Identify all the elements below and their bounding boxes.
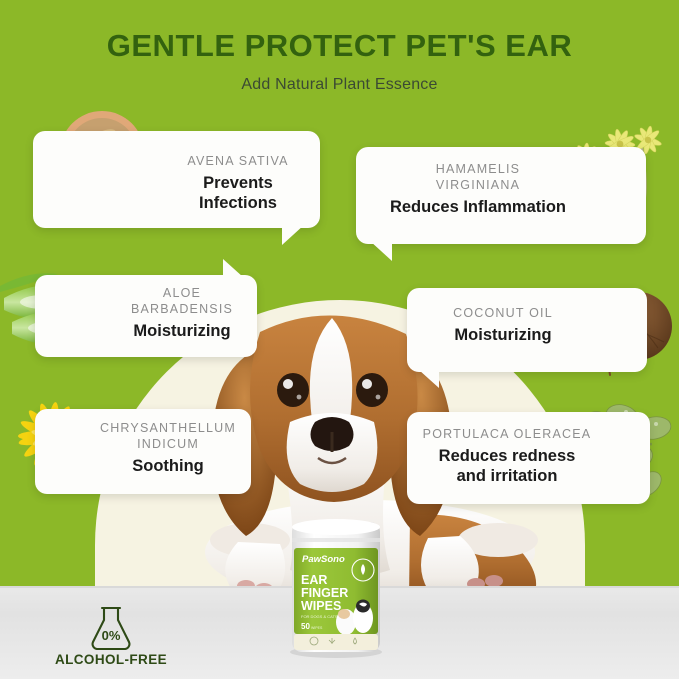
product-jar: PawSono EAR FINGER WIPES FOR DOGS & CATS…	[283, 518, 389, 658]
svg-text:PawSono: PawSono	[302, 554, 345, 565]
page-subtitle: Add Natural Plant Essence	[0, 76, 679, 94]
alcohol-percent: 0%	[102, 628, 121, 643]
card-tail	[419, 370, 439, 388]
card-tail	[282, 225, 304, 245]
card-tail	[223, 259, 243, 277]
ingredient-name: ALOE BARBADENSIS	[117, 285, 247, 317]
ingredient-name: AVENA SATIVA	[163, 153, 313, 169]
svg-text:WIPES: WIPES	[301, 599, 341, 613]
ingredient-card-portulaca[interactable]: PORTULACA OLERACEA Reduces redness and i…	[407, 412, 650, 504]
alcohol-free-label: ALCOHOL-FREE	[46, 652, 176, 667]
ingredient-card-hamamelis[interactable]: HAMAMELIS VIRGINIANA Reduces Inflammatio…	[356, 147, 646, 244]
svg-text:FINGER: FINGER	[301, 586, 348, 600]
ingredient-name: COCONUT OIL	[423, 305, 583, 321]
svg-text:EAR: EAR	[301, 573, 327, 587]
ingredient-card-coconut-oil[interactable]: COCONUT OIL Moisturizing	[407, 288, 647, 372]
ingredient-benefit: Moisturizing	[423, 325, 583, 345]
page-title: GENTLE PROTECT PET'S EAR	[0, 28, 679, 64]
ingredient-name: PORTULACA OLERACEA	[419, 426, 595, 442]
ingredient-name: CHRYSANTHELLUM INDICUM	[93, 420, 243, 452]
alcohol-free-badge: 0% ALCOHOL-FREE	[46, 604, 176, 667]
ingredient-card-avena-sativa[interactable]: AVENA SATIVA Prevents Infections	[33, 131, 320, 228]
ingredient-benefit: Reduces redness and irritation	[419, 446, 595, 486]
svg-text:FOR DOGS & CATS: FOR DOGS & CATS	[301, 614, 338, 619]
ingredient-benefit: Reduces Inflammation	[378, 197, 578, 217]
infographic-canvas: PawSono EAR FINGER WIPES FOR DOGS & CATS…	[0, 0, 679, 679]
ingredient-benefit: Soothing	[93, 456, 243, 476]
svg-text:WIPES: WIPES	[311, 626, 323, 630]
svg-text:50: 50	[301, 622, 310, 631]
ingredient-benefit: Prevents Infections	[163, 173, 313, 213]
card-tail	[370, 241, 392, 261]
flask-icon: 0%	[87, 604, 135, 650]
ingredient-card-aloe-barbadensis[interactable]: ALOE BARBADENSIS Moisturizing	[35, 275, 257, 357]
ingredient-name: HAMAMELIS VIRGINIANA	[378, 161, 578, 193]
ingredient-card-chrysanthellum[interactable]: CHRYSANTHELLUM INDICUM Soothing	[35, 409, 251, 494]
ingredient-benefit: Moisturizing	[117, 321, 247, 341]
